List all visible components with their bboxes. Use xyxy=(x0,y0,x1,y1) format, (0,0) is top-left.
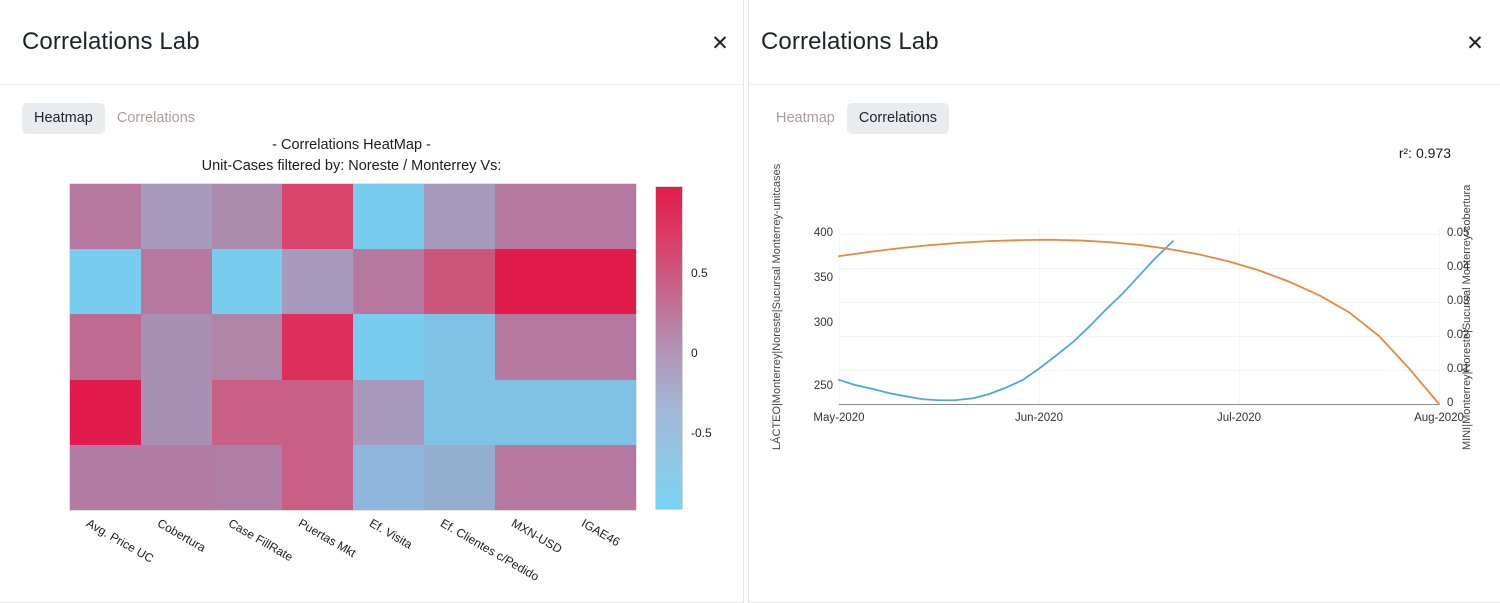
plot-area xyxy=(839,228,1439,405)
x-tick: Jun-2020 xyxy=(1015,412,1063,424)
heatmap-cell[interactable] xyxy=(212,380,283,445)
heatmap-cell[interactable] xyxy=(282,249,353,314)
left-panel-header: Correlations Lab ✕ xyxy=(0,0,743,85)
heatmap-cell[interactable] xyxy=(424,380,495,445)
heatmap-cell[interactable] xyxy=(495,249,566,314)
heatmap-title: - Correlations HeatMap - Unit-Cases filt… xyxy=(0,135,743,177)
x-tick: May-2020 xyxy=(813,412,864,424)
y-tick-left: 350 xyxy=(773,272,833,284)
heatmap-cell[interactable] xyxy=(566,184,637,249)
right-panel: Correlations Lab ✕ Heatmap Correlations … xyxy=(748,0,1500,603)
heatmap-cell[interactable] xyxy=(70,249,141,314)
heatmap-cell[interactable] xyxy=(70,380,141,445)
heatmap-cell[interactable] xyxy=(212,445,283,510)
heatmap-cell[interactable] xyxy=(70,445,141,510)
left-panel-tabs: Heatmap Correlations xyxy=(22,103,207,134)
heatmap-grid[interactable] xyxy=(70,184,636,510)
heatmap-plot xyxy=(70,184,636,510)
y-axis-left-title: LÁCTEO|Monterrey|Noreste|Sucursal Monter… xyxy=(771,164,783,450)
heatmap-cell[interactable] xyxy=(70,314,141,379)
heatmap-cell[interactable] xyxy=(353,314,424,379)
heatmap-cell[interactable] xyxy=(141,314,212,379)
line-mini xyxy=(839,240,1439,404)
heatmap-cell[interactable] xyxy=(353,184,424,249)
colorbar-tick-label: -0.5 xyxy=(691,426,712,440)
colorbar-tick-label: 0 xyxy=(691,346,698,360)
colorbar-gradient xyxy=(655,186,683,510)
heatmap-cell[interactable] xyxy=(353,380,424,445)
close-icon[interactable]: ✕ xyxy=(707,30,733,56)
heatmap-cell[interactable] xyxy=(141,380,212,445)
heatmap-x-label: Case FillRate xyxy=(226,516,295,564)
heatmap-cell[interactable] xyxy=(495,184,566,249)
y-tick-right: 0.04 xyxy=(1447,261,1500,273)
y-tick-right: 0.05 xyxy=(1447,227,1500,239)
heatmap-cell[interactable] xyxy=(282,314,353,379)
x-tick: Aug-2020 xyxy=(1414,412,1464,424)
heatmap-x-axis-labels: Avg. Price UCCoberturaCase FillRatePuert… xyxy=(70,512,636,592)
series-lines xyxy=(839,228,1439,405)
correlations-chart: r²: 0.973 LÁCTEO|Monterrey|Noreste|Sucur… xyxy=(749,0,1500,603)
heatmap-cell[interactable] xyxy=(566,445,637,510)
heatmap-cell[interactable] xyxy=(212,184,283,249)
heatmap-x-label: Ef. Visita xyxy=(367,516,415,552)
heatmap-cell[interactable] xyxy=(566,314,637,379)
y-tick-right: 0.01 xyxy=(1447,363,1500,375)
heatmap-cell[interactable] xyxy=(495,314,566,379)
heatmap-cell[interactable] xyxy=(566,249,637,314)
heatmap-x-label: IGAE46 xyxy=(579,516,622,549)
heatmap-colorbar: 0.50-0.5 xyxy=(655,186,683,510)
colorbar-tick-label: 0.5 xyxy=(691,266,708,280)
heatmap-cell[interactable] xyxy=(424,445,495,510)
heatmap-x-label: Cobertura xyxy=(155,516,208,555)
heatmap-cell[interactable] xyxy=(353,249,424,314)
tab-correlations[interactable]: Correlations xyxy=(105,103,207,134)
heatmap-cell[interactable] xyxy=(212,314,283,379)
heatmap-cell[interactable] xyxy=(141,445,212,510)
heatmap-cell[interactable] xyxy=(353,445,424,510)
colorbar-ticks: 0.50-0.5 xyxy=(691,186,737,510)
y-tick-right: 0.03 xyxy=(1447,295,1500,307)
heatmap-cell[interactable] xyxy=(141,184,212,249)
x-tick: Jul-2020 xyxy=(1217,412,1261,424)
screenshot-stage: Correlations Lab ✕ Heatmap Correlations … xyxy=(0,0,1500,603)
heatmap-cell[interactable] xyxy=(424,314,495,379)
heatmap-cell[interactable] xyxy=(282,445,353,510)
vertical-gridline xyxy=(1439,228,1440,405)
heatmap-cell[interactable] xyxy=(495,380,566,445)
heatmap-x-label: MXN-USD xyxy=(509,516,564,556)
heatmap-title-line2: Unit-Cases filtered by: Noreste / Monter… xyxy=(0,156,703,177)
heatmap-x-label: Avg. Price UC xyxy=(84,516,156,566)
y-tick-left: 250 xyxy=(773,380,833,392)
heatmap-cell[interactable] xyxy=(70,184,141,249)
line-lacteo xyxy=(839,241,1173,400)
heatmap-cell[interactable] xyxy=(141,249,212,314)
y-axis-right-title: MINI|Monterrey|Noreste|Sucursal Monterre… xyxy=(1461,185,1473,450)
r-squared-value: r²: 0.973 xyxy=(1399,145,1451,161)
heatmap-title-line1: - Correlations HeatMap - xyxy=(0,135,703,156)
y-tick-right: 0 xyxy=(1447,397,1500,409)
heatmap-cell[interactable] xyxy=(424,249,495,314)
y-tick-right: 0.02 xyxy=(1447,329,1500,341)
tab-heatmap[interactable]: Heatmap xyxy=(22,103,105,134)
heatmap-cell[interactable] xyxy=(282,184,353,249)
heatmap-cell[interactable] xyxy=(495,445,566,510)
heatmap-cell[interactable] xyxy=(424,184,495,249)
page-title: Correlations Lab xyxy=(22,28,200,56)
y-tick-left: 300 xyxy=(773,317,833,329)
heatmap-x-label: Puertas Mkt xyxy=(296,516,358,560)
heatmap-cell[interactable] xyxy=(566,380,637,445)
y-tick-left: 400 xyxy=(773,227,833,239)
heatmap-cell[interactable] xyxy=(212,249,283,314)
heatmap-cell[interactable] xyxy=(282,380,353,445)
left-panel: Correlations Lab ✕ Heatmap Correlations … xyxy=(0,0,744,603)
